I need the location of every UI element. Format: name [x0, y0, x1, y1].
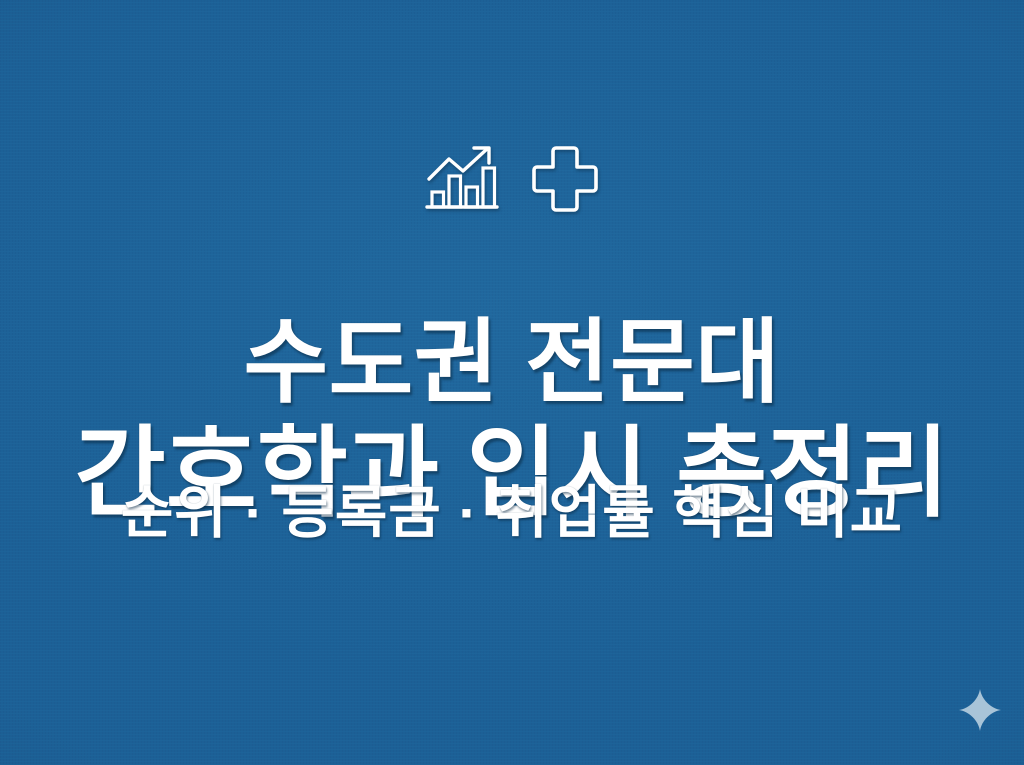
headline-line-1: 수도권 전문대 — [0, 310, 1024, 417]
title-card: 수도권 전문대 간호학과 입시 총정리 순위 · 등록금 · 취업률 핵심 비교 — [0, 0, 1024, 765]
icon-row — [0, 143, 1024, 215]
bar-chart-growth-icon — [423, 143, 503, 215]
subtitle: 순위 · 등록금 · 취업률 핵심 비교 — [0, 482, 1024, 545]
medical-cross-icon — [529, 143, 601, 215]
four-point-sparkle-icon — [958, 688, 1002, 732]
